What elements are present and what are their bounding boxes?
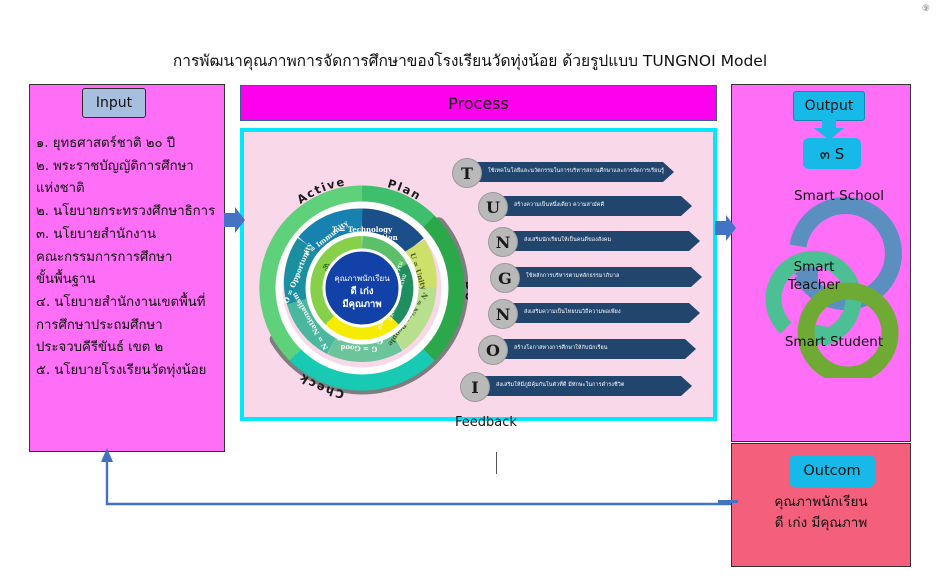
tungnoi-row-text: สร้างความเป็นหนึ่งเดียว ความสามัคคี [492, 203, 604, 208]
outcome-line-1: คุณภาพนักเรียน [731, 492, 911, 513]
wheel-center-line: คุณภาพนักเรียน [334, 274, 390, 283]
list-item: แห่งชาติ [36, 178, 224, 201]
tungnoi-row-text: ส่งเสริมให้มีภูมิคุ้มกันในตัวที่ดี มีทัก… [474, 383, 624, 388]
list-item: ๔. นโยบายสำนักงานเขตพื้นที่ [36, 292, 224, 315]
tungnoi-letter-O: O [478, 335, 508, 365]
wheel-center-line: มีคุณภาพ [342, 298, 381, 310]
smart-student-label: Smart Student [775, 334, 893, 350]
smart-teacher-label: Smart Teacher [779, 258, 849, 294]
output-badge[interactable]: Output [793, 91, 865, 121]
tungnoi-letter-N2: N [488, 299, 518, 329]
tungnoi-row-text: ใช้เทคโนโลยีและนวัตกรรมในการบริหารสถานศึ… [466, 169, 664, 174]
outcome-feedback-connector-icon [718, 492, 738, 514]
page-title: การพัฒนาคุณภาพการจัดการศึกษาของโรงเรียนว… [0, 48, 940, 73]
wheel-center-line: ดี เก่ง [350, 285, 373, 297]
tungnoi-banner: ใช้เทคโนโลยีและนวัตกรรมในการบริหารสถานศึ… [466, 162, 674, 182]
list-item: ๒. นโยบายกระทรวงศึกษาธิการ [36, 201, 224, 224]
tungnoi-row-text: ส่งเสริมความเป็นไทยบนวิถีความพอเพียง [502, 310, 621, 315]
feedback-loop-arrow-icon [95, 440, 755, 530]
outcome-text: คุณภาพนักเรียน ดี เก่ง มีคุณภาพ [731, 492, 911, 534]
list-item: ประจวบคีรีขันธ์ เขต ๒ [36, 337, 224, 360]
input-policy-list: ๑. ยุทธศาสตร์ชาติ ๒๐ ปี ๒. พระราชบัญญัติ… [36, 133, 224, 383]
page-corner-mark: ⑨ [922, 4, 930, 14]
tungnoi-banner: สร้างโอกาสทางการศึกษาให้กับนักเรียน [492, 339, 696, 359]
input-badge[interactable]: Input [82, 88, 146, 118]
feedback-label: Feedback [455, 415, 655, 430]
smart-school-label: Smart School [784, 188, 894, 204]
tungnoi-letter-T: T [452, 158, 482, 188]
tungnoi-letter-I: I [460, 372, 490, 402]
tungnoi-letter-G: G [490, 263, 520, 293]
smart-teacher-line1: Smart [779, 258, 849, 276]
input-to-process-arrow-icon [224, 205, 246, 235]
list-item: คณะกรรมการการศึกษา [36, 247, 224, 270]
tungnoi-row-text: ส่งเสริมนักเรียนให้เป็นคนดีของสังคม [502, 238, 611, 243]
three-s-badge: ๓ S [803, 138, 861, 169]
list-item: ๕. นโยบายโรงเรียนวัดทุ่งน้อย [36, 360, 224, 383]
list-item: ๒. พระราชบัญญัติการศึกษา [36, 156, 224, 179]
tungnoi-banner: ส่งเสริมความเป็นไทยบนวิถีความพอเพียง [502, 303, 700, 323]
process-to-output-arrow-icon [715, 213, 737, 243]
outcome-badge[interactable]: Outcom [789, 455, 875, 487]
tungnoi-banner: สร้างความเป็นหนึ่งเดียว ความสามัคคี [492, 196, 692, 216]
list-item: ๓. นโยบายสำนักงาน [36, 224, 224, 247]
process-header: Process [240, 85, 717, 121]
tungnoi-banner: ใช้หลักการบริหารตามหลักธรรมาภิบาล [504, 267, 702, 287]
list-item: ๑. ยุทธศาสตร์ชาติ ๒๐ ปี [36, 133, 224, 156]
tungnoi-row-text: สร้างโอกาสทางการศึกษาให้กับนักเรียน [492, 346, 608, 351]
tungnoi-banner: ส่งเสริมนักเรียนให้เป็นคนดีของสังคม [502, 231, 700, 251]
tungnoi-letter-U: U [478, 192, 508, 222]
outcome-line-2: ดี เก่ง มีคุณภาพ [731, 513, 911, 534]
tungnoi-letter-N1: N [488, 227, 518, 257]
wheel-outer-label: Do [462, 281, 468, 303]
pdca-wheel-graphic: Plan Do Check Active T = Technology and … [256, 168, 468, 400]
tungnoi-banner: ส่งเสริมให้มีภูมิคุ้มกันในตัวที่ดี มีทัก… [474, 376, 692, 396]
smart-teacher-line2: Teacher [779, 276, 849, 294]
tungnoi-row-text: ใช้หลักการบริหารตามหลักธรรมาภิบาล [504, 274, 619, 279]
list-item: การศึกษาประถมศึกษา [36, 315, 224, 338]
list-item: ขั้นพื้นฐาน [36, 269, 224, 292]
